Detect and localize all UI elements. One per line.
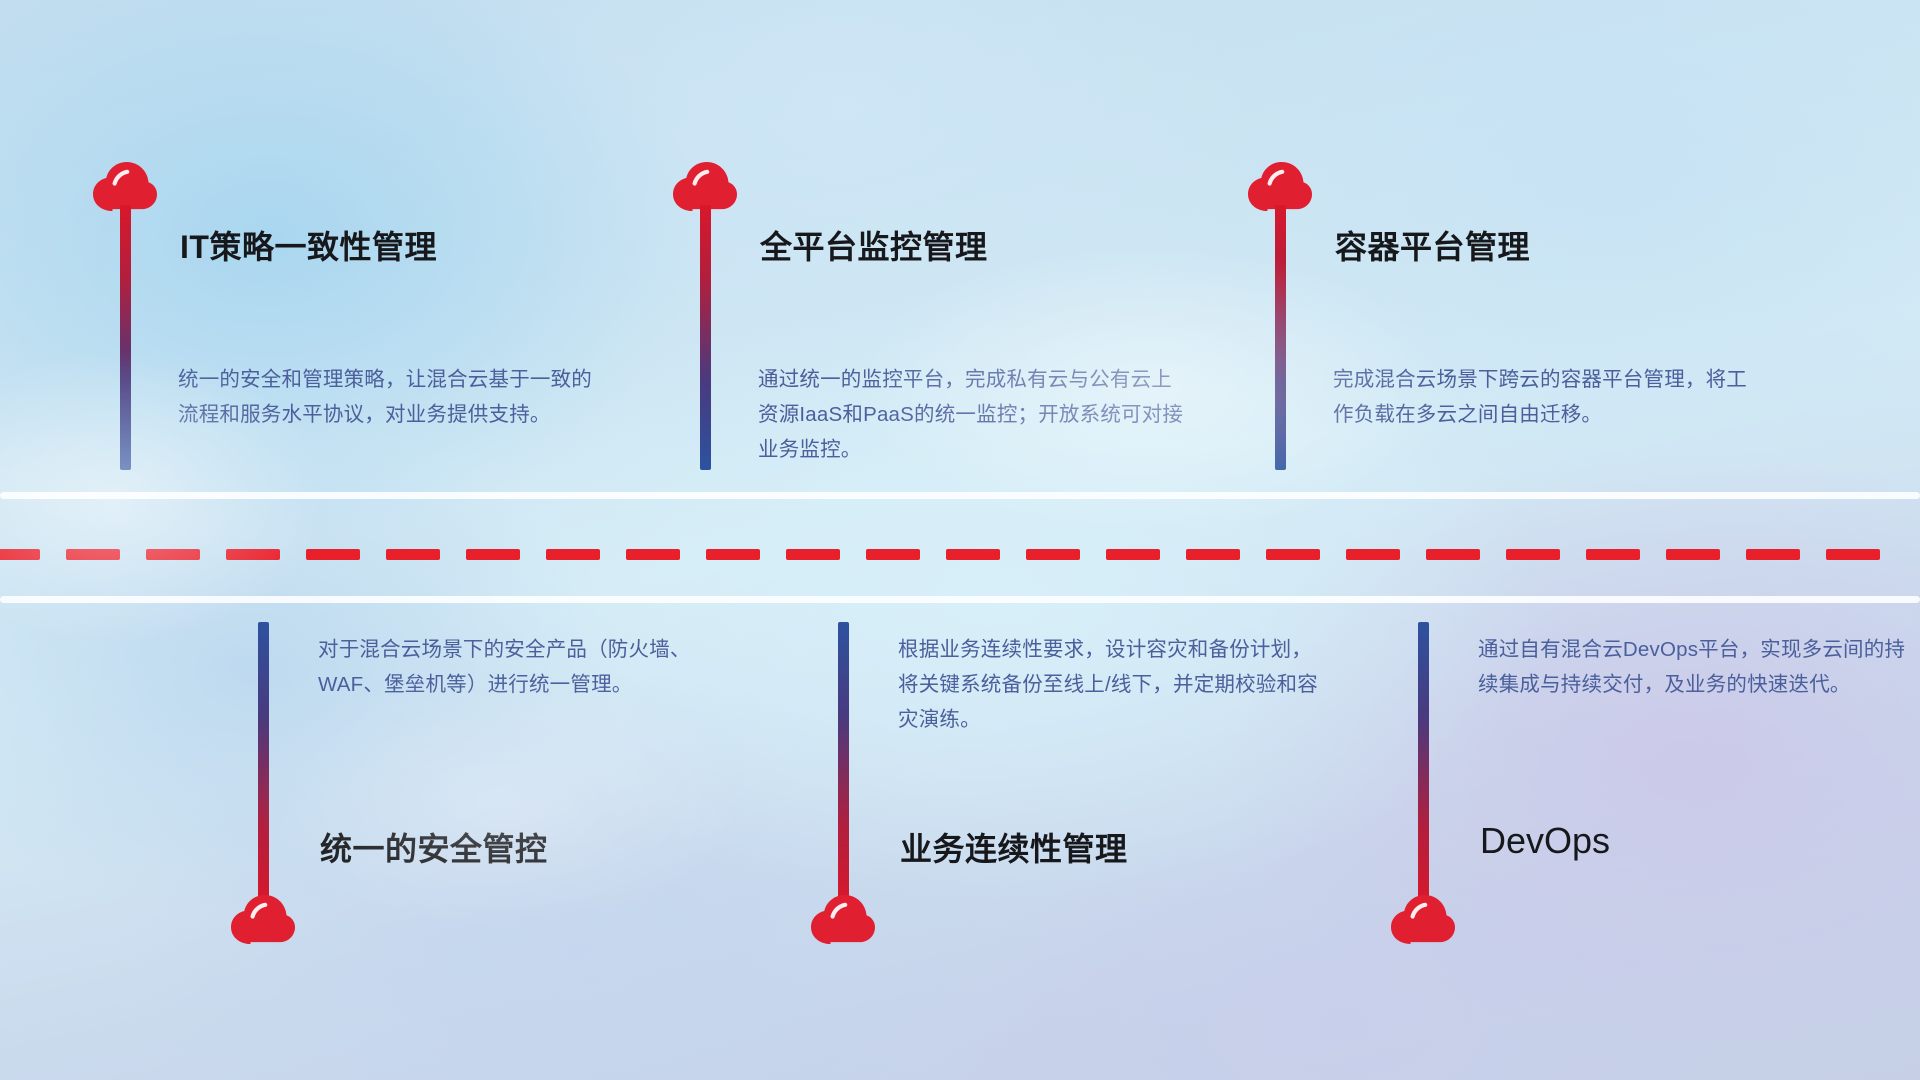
dash-segment bbox=[306, 549, 360, 560]
dashed-separator bbox=[0, 549, 1906, 560]
dash-segment bbox=[1586, 549, 1640, 560]
dash-segment bbox=[66, 549, 120, 560]
timeline-stem bbox=[700, 205, 711, 470]
divider-rail-bottom bbox=[0, 596, 1920, 603]
dash-segment bbox=[1746, 549, 1800, 560]
dash-segment bbox=[226, 549, 280, 560]
dash-segment bbox=[1266, 549, 1320, 560]
top-column-1-body: 统一的安全和管理策略，让混合云基于一致的流程和服务水平协议，对业务提供支持。 bbox=[178, 362, 608, 432]
bottom-column-3-heading: DevOps bbox=[1480, 820, 1610, 862]
bottom-column-1-body: 对于混合云场景下的安全产品（防火墙、WAF、堡垒机等）进行统一管理。 bbox=[318, 632, 748, 702]
top-column-1-heading: IT策略一致性管理 bbox=[180, 222, 437, 268]
timeline-stem bbox=[1418, 622, 1429, 905]
cloud-icon bbox=[810, 893, 876, 945]
dash-segment bbox=[1186, 549, 1240, 560]
dash-segment bbox=[1666, 549, 1720, 560]
dash-segment bbox=[706, 549, 760, 560]
cloud-icon bbox=[230, 893, 296, 945]
dash-segment bbox=[546, 549, 600, 560]
dash-segment bbox=[1346, 549, 1400, 560]
dash-segment bbox=[1026, 549, 1080, 560]
bottom-column-2-body: 根据业务连续性要求，设计容灾和备份计划，将关键系统备份至线上/线下，并定期校验和… bbox=[898, 632, 1328, 737]
top-column-2-heading: 全平台监控管理 bbox=[760, 222, 988, 268]
timeline-stem bbox=[838, 622, 849, 905]
dash-segment bbox=[1506, 549, 1560, 560]
dash-segment bbox=[1426, 549, 1480, 560]
bottom-column-1-heading: 统一的安全管控 bbox=[320, 824, 548, 870]
dash-segment bbox=[386, 549, 440, 560]
dash-segment bbox=[1826, 549, 1880, 560]
top-column-2-body: 通过统一的监控平台，完成私有云与公有云上资源IaaS和PaaS的统一监控；开放系… bbox=[758, 362, 1188, 467]
dash-segment bbox=[626, 549, 680, 560]
divider-rail-top bbox=[0, 492, 1920, 499]
dash-segment bbox=[866, 549, 920, 560]
dash-segment bbox=[0, 549, 40, 560]
timeline-stem bbox=[120, 205, 131, 470]
infographic-canvas: IT策略一致性管理 统一的安全和管理策略，让混合云基于一致的流程和服务水平协议，… bbox=[0, 0, 1920, 1080]
timeline-stem bbox=[258, 622, 269, 905]
top-column-3-heading: 容器平台管理 bbox=[1335, 222, 1530, 268]
timeline-stem bbox=[1275, 205, 1286, 470]
dash-segment bbox=[466, 549, 520, 560]
bottom-column-2-heading: 业务连续性管理 bbox=[900, 824, 1128, 870]
dash-segment bbox=[1106, 549, 1160, 560]
dash-segment bbox=[786, 549, 840, 560]
dash-segment bbox=[146, 549, 200, 560]
cloud-icon bbox=[1390, 893, 1456, 945]
bottom-column-3-body: 通过自有混合云DevOps平台，实现多云间的持续集成与持续交付，及业务的快速迭代… bbox=[1478, 632, 1908, 702]
dash-segment bbox=[946, 549, 1000, 560]
top-column-3-body: 完成混合云场景下跨云的容器平台管理，将工作负载在多云之间自由迁移。 bbox=[1333, 362, 1763, 432]
